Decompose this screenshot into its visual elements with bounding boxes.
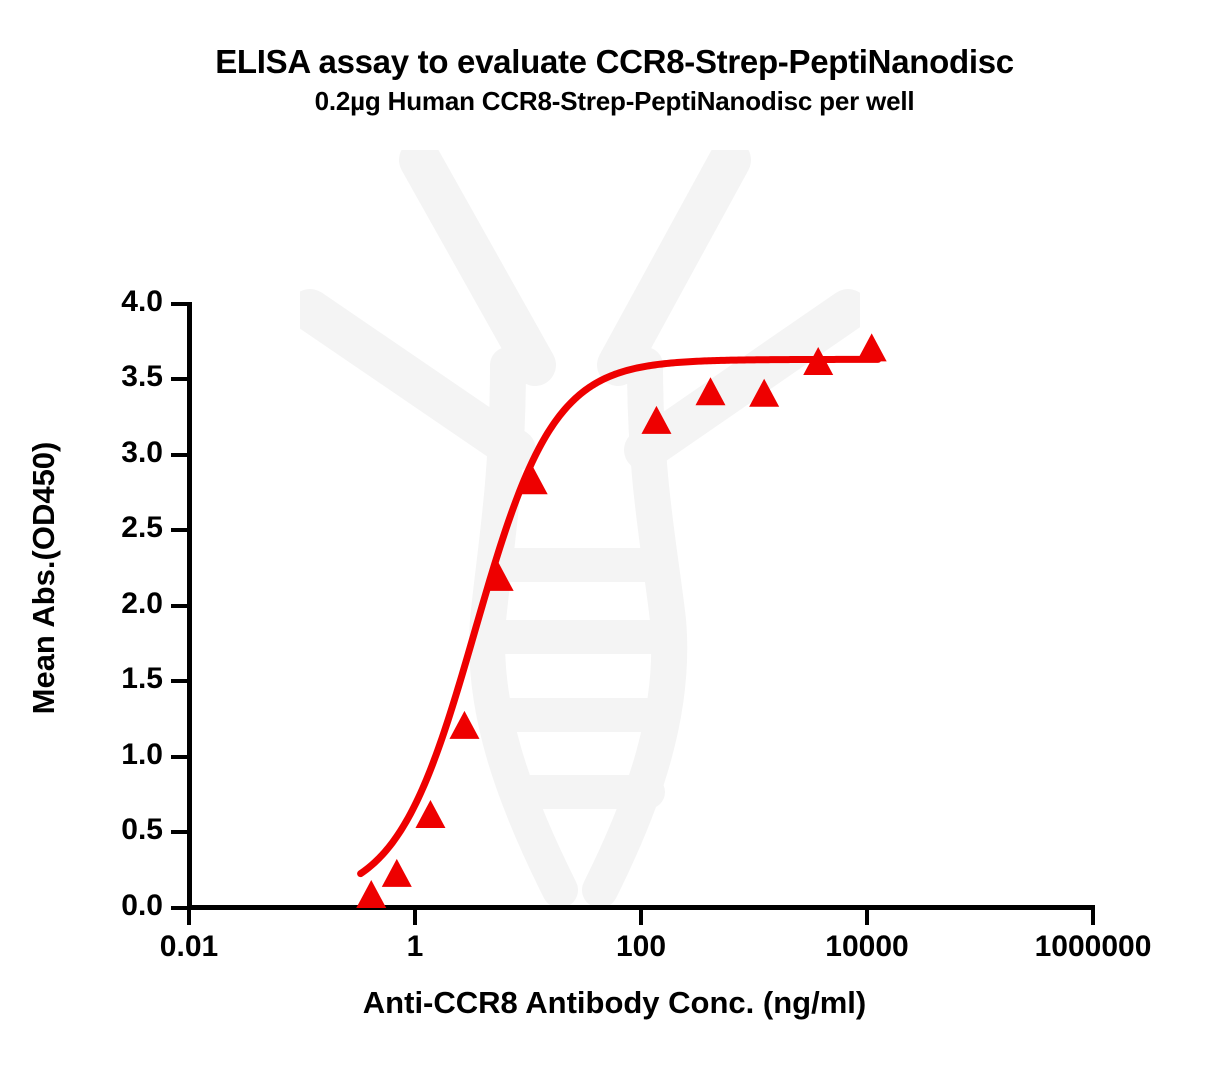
data-point-marker bbox=[857, 333, 887, 361]
data-markers bbox=[356, 333, 886, 908]
data-point-marker bbox=[415, 800, 445, 828]
data-point-marker bbox=[382, 859, 412, 887]
data-point-marker bbox=[356, 880, 386, 908]
data-point-marker bbox=[749, 379, 779, 407]
chart-figure: ELISA assay to evaluate CCR8-Strep-Pepti… bbox=[0, 0, 1229, 1075]
fit-curve bbox=[361, 359, 878, 873]
data-layer bbox=[0, 0, 1229, 1075]
data-point-marker bbox=[695, 377, 725, 405]
data-point-marker bbox=[641, 406, 671, 434]
data-point-marker bbox=[449, 711, 479, 739]
